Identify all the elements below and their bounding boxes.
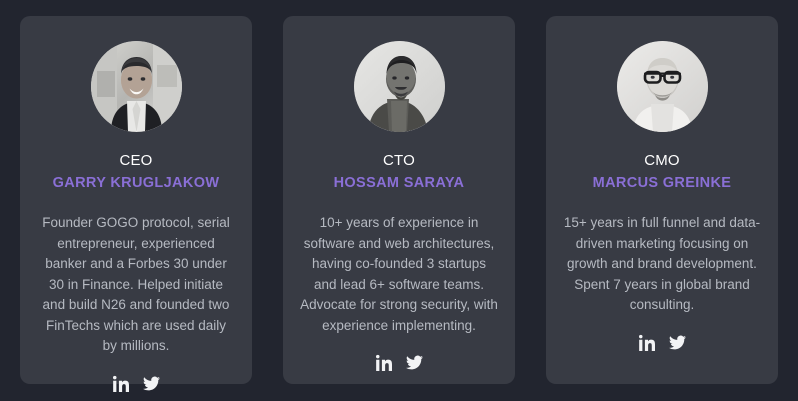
linkedin-icon[interactable]	[376, 354, 393, 371]
member-bio: 15+ years in full funnel and data-driven…	[563, 213, 761, 316]
twitter-icon[interactable]	[143, 375, 160, 392]
member-bio: 10+ years of experience in software and …	[300, 213, 498, 336]
avatar	[354, 41, 445, 132]
avatar	[91, 41, 182, 132]
team-section: CEO GARRY KRUGLJAKOW Founder GOGO protoc…	[0, 0, 798, 401]
member-bio: Founder GOGO protocol, serial entreprene…	[37, 213, 235, 357]
member-name: GARRY KRUGLJAKOW	[53, 174, 220, 193]
linkedin-icon[interactable]	[113, 375, 130, 392]
avatar	[617, 41, 708, 132]
social-links	[376, 354, 423, 371]
twitter-icon[interactable]	[406, 354, 423, 371]
team-member-card: CEO GARRY KRUGLJAKOW Founder GOGO protoc…	[20, 16, 252, 384]
twitter-icon[interactable]	[669, 334, 686, 351]
social-links	[113, 375, 160, 392]
social-links	[639, 334, 686, 351]
linkedin-icon[interactable]	[639, 334, 656, 351]
member-role: CMO	[644, 152, 680, 170]
member-name: MARCUS GREINKE	[593, 174, 732, 193]
team-member-card: CTO HOSSAM SARAYA 10+ years of experienc…	[283, 16, 515, 384]
member-name: HOSSAM SARAYA	[334, 174, 465, 193]
team-member-card: CMO MARCUS GREINKE 15+ years in full fun…	[546, 16, 778, 384]
member-role: CEO	[119, 152, 152, 170]
member-role: CTO	[383, 152, 415, 170]
